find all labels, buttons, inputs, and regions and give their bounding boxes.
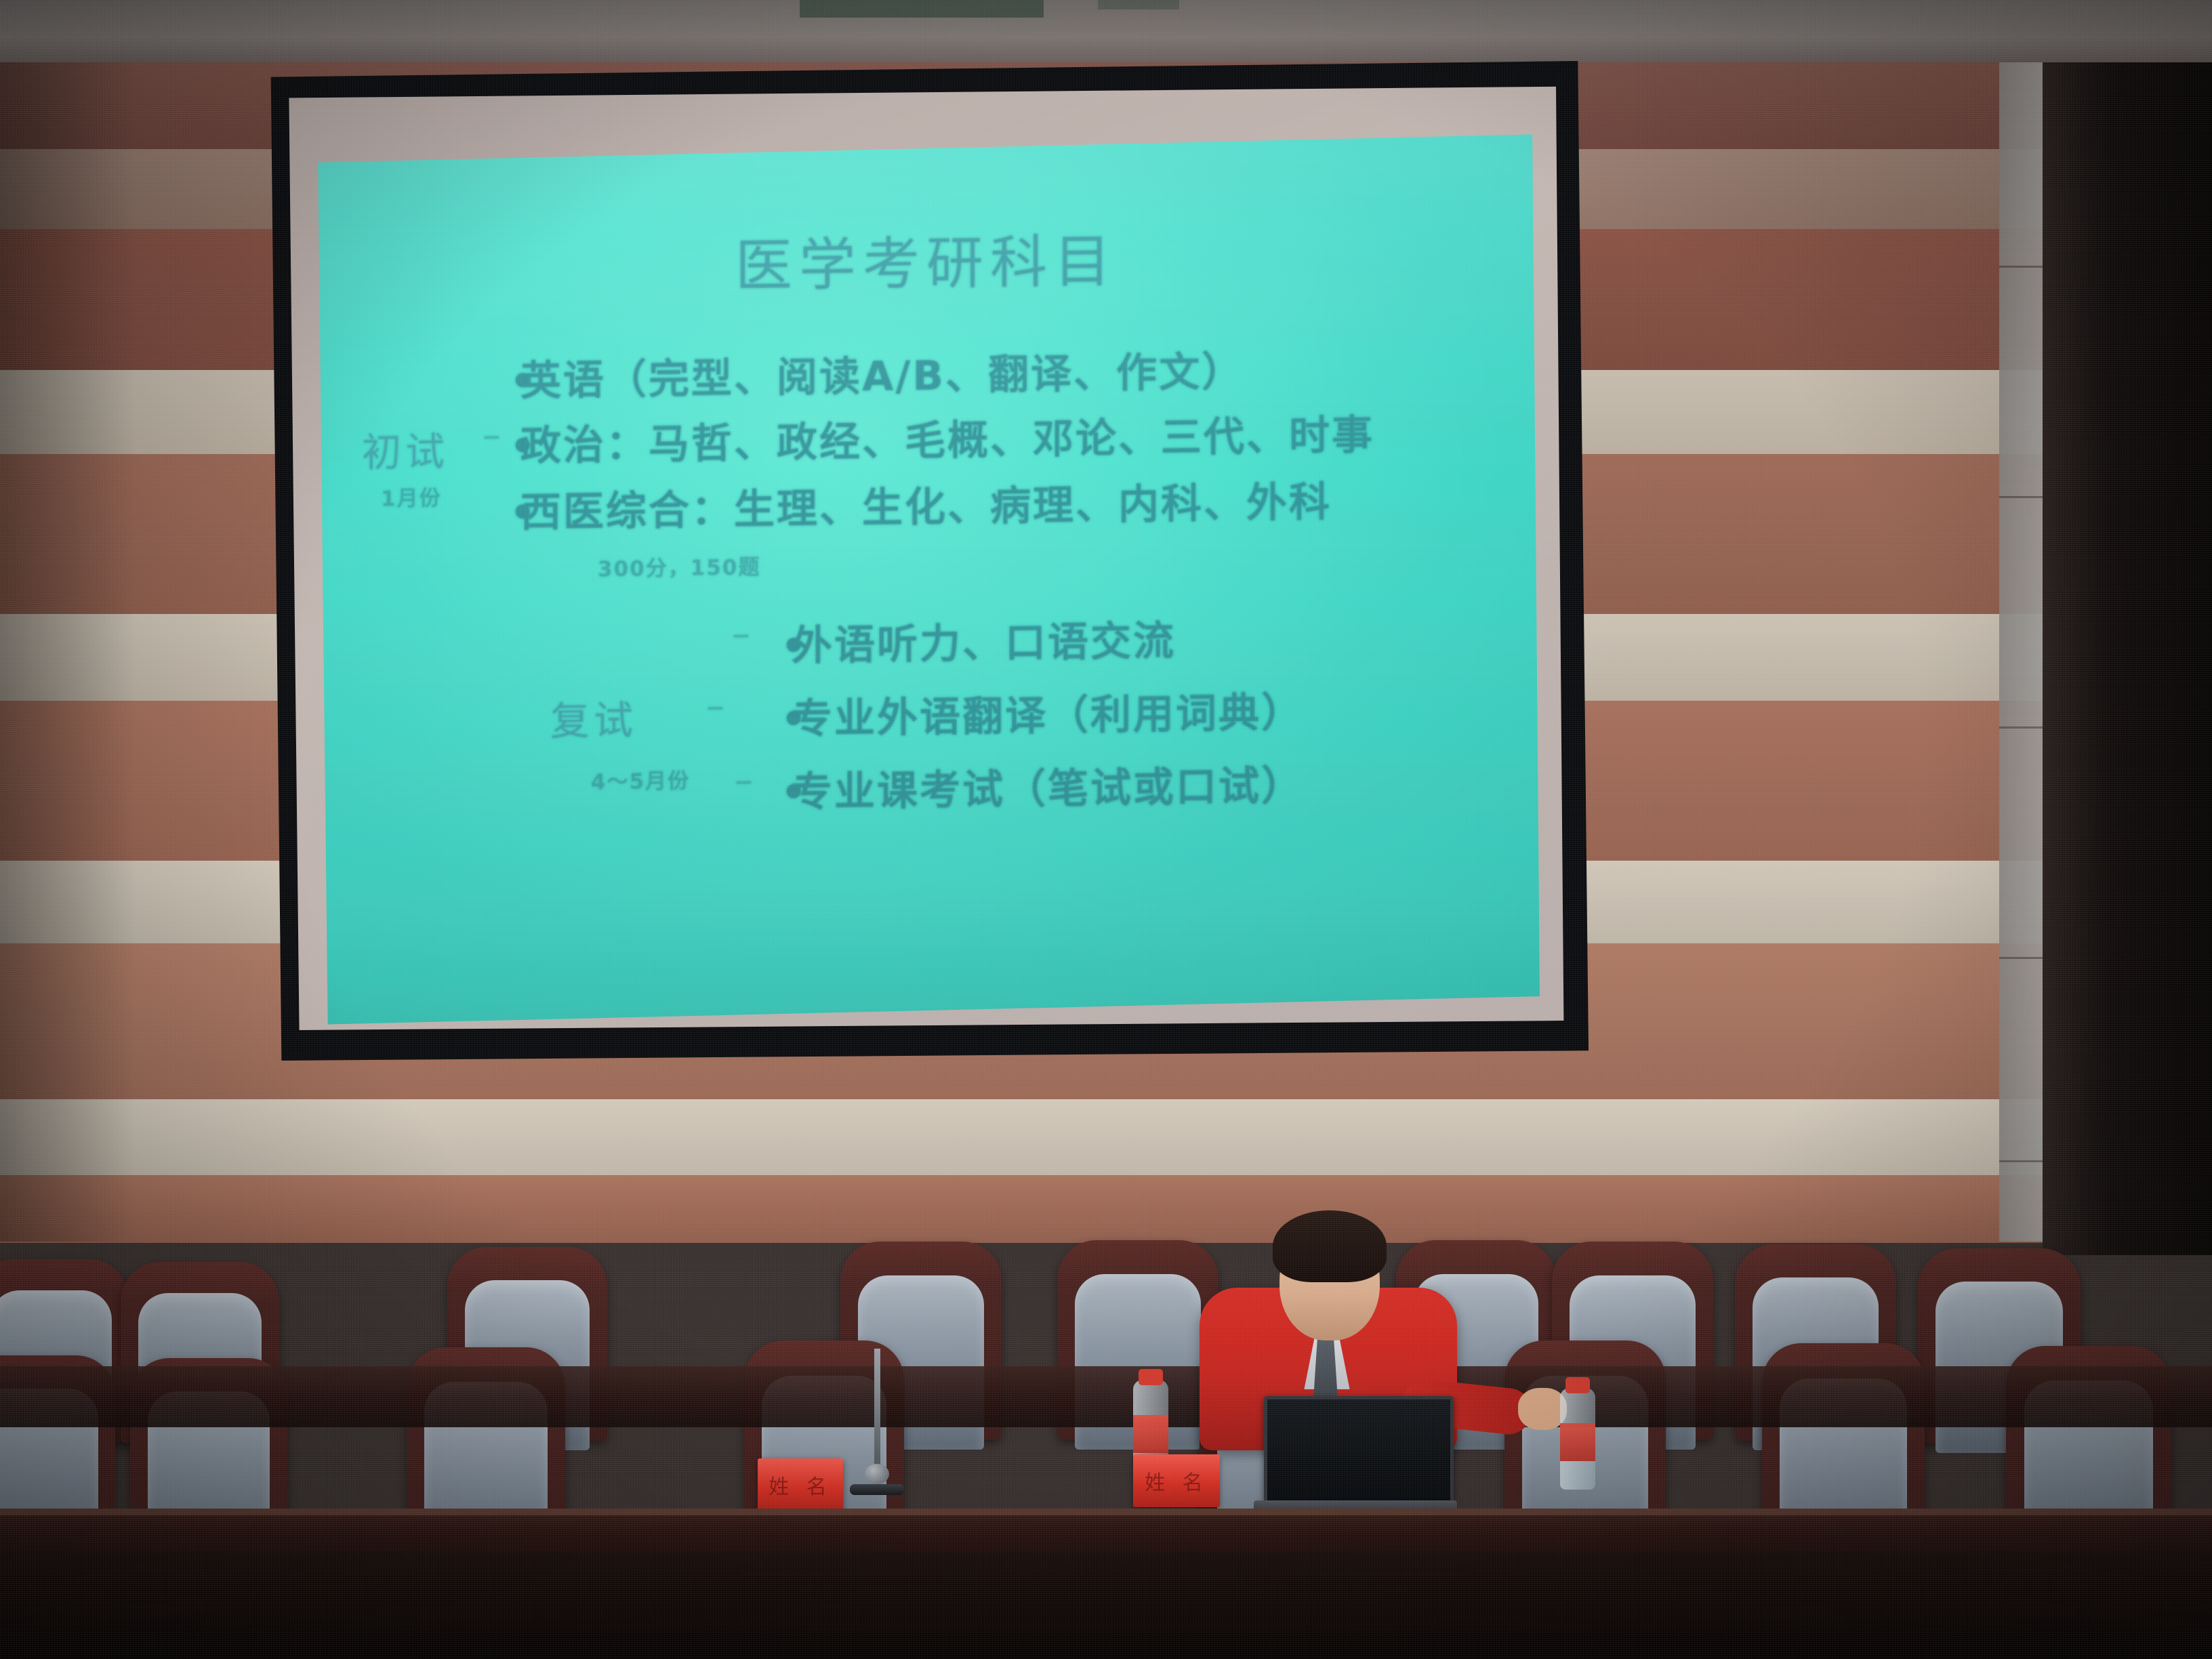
bottle-cap [1139, 1369, 1163, 1385]
stage-one-dash: – [483, 413, 501, 456]
bullet-text: 英语（完型、阅读A/B、翻译、作文） [520, 348, 1244, 405]
slide-bullet-translation: •专业外语翻译（利用词典） [781, 680, 1304, 745]
head-table-edge [0, 1509, 2212, 1515]
slide-note-score: 300分，150题 [598, 550, 760, 582]
placard-text: 姓 名 [1133, 1454, 1220, 1507]
bottle-label [1560, 1423, 1595, 1461]
name-placard-left: 姓 名 [758, 1458, 843, 1511]
water-bottle-right [1560, 1388, 1595, 1490]
bullet-marker: • [781, 623, 792, 670]
placard-text: 姓 名 [758, 1458, 843, 1511]
slide-title: 医学考研科目 [313, 210, 1540, 308]
slide-bullet-listening: •外语听力、口语交流 [781, 608, 1176, 672]
stage-one-date: 1月份 [381, 480, 442, 512]
bullet-text: 专业课考试（笔试或口试） [792, 762, 1304, 817]
microphone-head [865, 1464, 889, 1484]
presenter-hair [1273, 1210, 1387, 1282]
bullet-text: 专业外语翻译（利用词典） [792, 689, 1304, 743]
ceiling-vent-secondary [1098, 0, 1179, 9]
slide-bullet-english: •英语（完型、阅读A/B、翻译、作文） [510, 339, 1244, 407]
bottle-cap [1565, 1377, 1590, 1393]
wall-dark-edge-right [2043, 62, 2212, 1255]
slide-content: 医学考研科目 初试 – 1月份 •英语（完型、阅读A/B、翻译、作文） •政治：… [313, 134, 1540, 1025]
table-backboard [0, 1366, 2212, 1427]
bottle-label [1133, 1415, 1168, 1453]
laptop-screen [1264, 1396, 1454, 1504]
projected-slide: 医学考研科目 初试 – 1月份 •英语（完型、阅读A/B、翻译、作文） •政治：… [313, 134, 1540, 1025]
stage-two-dash-bottom: – [735, 758, 753, 801]
stage-floor [0, 1552, 2212, 1659]
lecture-hall-photo: 医学考研科目 初试 – 1月份 •英语（完型、阅读A/B、翻译、作文） •政治：… [0, 0, 2212, 1659]
slide-bullet-western-medicine: •西医综合：生理、生化、病理、内科、外科 [510, 469, 1332, 539]
stage-two-label: 复试 [550, 689, 637, 747]
microphone-stem [874, 1349, 880, 1477]
stage-two-dash: – [706, 684, 724, 727]
bullet-marker: • [510, 423, 520, 470]
stage-two-dash-top: – [732, 612, 750, 655]
stage-one-label: 初试 [362, 419, 449, 478]
wall-shadow-left [0, 62, 136, 1242]
bullet-marker: • [510, 358, 520, 405]
slide-bullet-specialty-exam: •专业课考试（笔试或口试） [781, 753, 1304, 819]
bullet-text: 政治：马哲、政经、毛概、邓论、三代、时事 [520, 411, 1374, 470]
ceiling-vent [800, 0, 1044, 18]
name-placard-right: 姓 名 [1133, 1454, 1220, 1507]
bullet-text: 西医综合：生理、生化、病理、内科、外科 [520, 478, 1332, 537]
bullet-marker: • [781, 696, 792, 743]
projection-screen-assembly: 医学考研科目 初试 – 1月份 •英语（完型、阅读A/B、翻译、作文） •政治：… [251, 54, 1599, 1071]
microphone-base [850, 1484, 904, 1495]
bullet-text: 外语听力、口语交流 [792, 617, 1176, 670]
slide-bullet-politics: •政治：马哲、政经、毛概、邓论、三代、时事 [510, 402, 1374, 472]
stage-two-date: 4～5月份 [591, 764, 690, 796]
bullet-marker: • [510, 489, 520, 537]
bullet-marker: • [781, 769, 792, 817]
